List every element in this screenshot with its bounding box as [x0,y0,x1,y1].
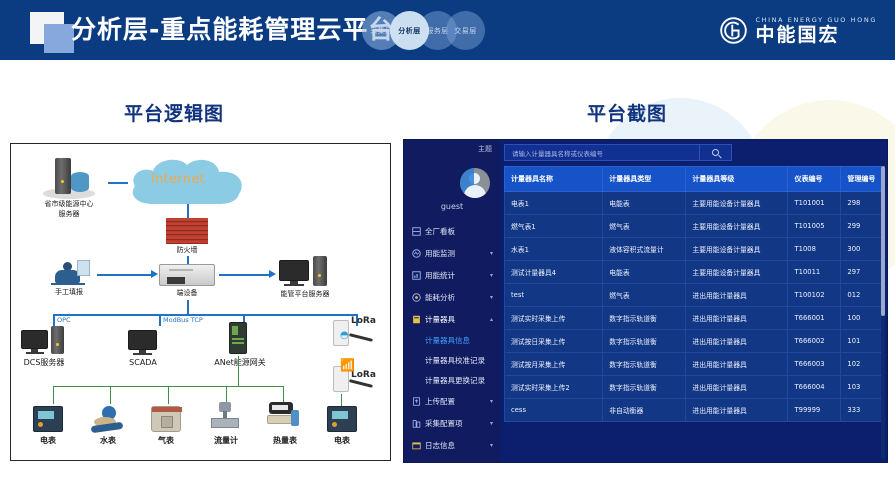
server-led-icon [56,343,59,346]
header-square-blue-icon [44,24,74,53]
meter-label: 气表 [143,436,189,446]
sidebar-item-label: 日志信息 [425,440,455,451]
layer-circle-label: 分析层 [398,26,421,36]
theme-switcher[interactable]: 主题 [478,144,492,154]
wifi-signal-icon: ◓ [340,330,349,341]
table-row[interactable]: 测试按日采集上传 数字指示轨道衡 进出用能计量器具 T666002 101 [505,330,883,353]
scada-monitor-icon [128,330,157,350]
electric-meter-icon [33,406,63,432]
sidebar-item-label: 采集配置项 [425,418,463,429]
cell-manage-no: 333 [841,399,883,422]
chevron-down-icon: ▾ [490,442,493,449]
internet-label: Internet [151,172,205,187]
platform-logic-diagram: 省市级能源中心 服务器 Internet 防火墙 手工填报 端设备 能管平 [10,143,391,461]
search-button[interactable] [699,145,731,160]
cell-manage-no: 297 [841,261,883,284]
cell-grade: 进出用能计量器具 [686,284,788,307]
arrow-manual-to-edge [151,270,158,278]
chevron-down-icon: ▾ [490,420,493,427]
cell-manage-no: 100 [841,307,883,330]
bus-drop-scada [159,314,161,326]
sidebar-item-label: 用能统计 [425,270,455,281]
green-drop-2 [110,386,111,404]
cell-meter-no: T101005 [788,215,841,238]
cell-manage-no: 101 [841,330,883,353]
table-row[interactable]: cess 非自动衡器 进出用能计量器具 T99999 333 [505,399,883,422]
table-row[interactable]: 电表1 电能表 主要用能设备计量器具 T101001 298 [505,192,883,215]
cell-type: 数字指示轨道衡 [603,330,686,353]
cell-type: 数字指示轨道衡 [603,353,686,376]
sidebar-subitem-replacement-record[interactable]: 计量器具更换记录 [404,370,500,390]
column-header-manage-no[interactable]: 管理编号 [841,167,883,192]
page-header: 分析层-重点能耗管理云平台 采集层 服务层 交易层 分析层 CHINA ENER… [0,0,895,60]
anet-gateway-label: ANet能源网关 [205,358,275,368]
cell-type: 燃气表 [603,215,686,238]
arrow-edge-to-platform [269,270,276,278]
table-row[interactable]: 测试按月采集上传 数字指示轨道衡 进出用能计量器具 T666003 102 [505,353,883,376]
log-icon [412,441,421,450]
cell-grade: 主要用能设备计量器具 [686,192,788,215]
cell-meter-no: T10011 [788,261,841,284]
monitor-icon [412,249,421,258]
manual-entry-label: 手工填报 [41,288,97,297]
firewall-label: 防火墙 [157,246,217,255]
provincial-server-label-line1: 省市级能源中心 [23,200,115,209]
protocol-label-modbus: ModBus TCP [163,316,203,324]
search-icon [712,149,719,156]
cell-manage-no: 102 [841,353,883,376]
dcs-monitor-icon [21,330,48,349]
sidebar-item-monitor[interactable]: 用能监测 ▾ [404,242,500,264]
cell-name: 测试实时采集上传 [505,307,603,330]
cell-meter-no: T99999 [788,399,841,422]
column-header-name[interactable]: 计量器具名称 [505,167,603,192]
dcs-tower-icon [51,326,64,354]
username-label: guest [404,202,500,211]
database-cylinder-icon [71,172,89,192]
g-circle-logo-icon [719,16,748,45]
logo-english-text: CHINA ENERGY GUO HONG [755,16,877,24]
sidebar-item-label: 全厂看板 [425,226,455,237]
platform-server-tower-icon [313,256,327,286]
cell-name: 燃气表1 [505,215,603,238]
monitor-base [284,284,304,286]
cell-grade: 主要用能设备计量器具 [686,238,788,261]
cell-manage-no: 299 [841,215,883,238]
cell-meter-no: T101001 [788,192,841,215]
sidebar-menu: 全厂看板 用能监测 ▾ 用能统计 ▾ 能耗分析 [404,220,500,456]
sidebar-item-dashboard[interactable]: 全厂看板 [404,220,500,242]
cell-name: 测试实时采集上传2 [505,376,603,399]
column-header-type[interactable]: 计量器具类型 [603,167,686,192]
table-row[interactable]: 燃气表1 燃气表 主要用能设备计量器具 T101005 299 [505,215,883,238]
meter-label: 流量计 [201,436,251,446]
table-row[interactable]: 水表1 液体容积式流量计 主要用能设备计量器具 T1008 300 [505,238,883,261]
link-edge-to-bus [187,300,189,314]
layer-circle-trade[interactable]: 交易层 [446,11,485,50]
sidebar-subitem-meter-info[interactable]: 计量器具信息 [404,330,500,350]
column-header-grade[interactable]: 计量器具等级 [686,167,788,192]
cell-meter-no: T666003 [788,353,841,376]
sidebar-item-label: 能耗分析 [425,292,455,303]
chevron-up-icon: ▴ [490,316,493,323]
sidebar-item-meter-device[interactable]: 计量器具 ▴ [404,308,500,330]
link-edge-to-platform [219,274,269,276]
sidebar-subitem-calibration-record[interactable]: 计量器具校准记录 [404,350,500,370]
dashboard-icon [412,227,421,236]
sidebar-item-label: 用能监测 [425,248,455,259]
sidebar-item-log[interactable]: 日志信息 ▾ [404,434,500,456]
table-scrollbar[interactable] [881,166,885,458]
cell-type: 数字指示轨道衡 [603,307,686,330]
scada-label: SCADA [117,358,169,368]
lora-antenna-bottom [349,379,373,387]
right-section-title: 平台截图 [587,99,667,126]
cell-grade: 主要用能设备计量器具 [686,261,788,284]
upload-config-icon [412,397,421,406]
bus-drop-dcs [53,314,55,326]
chevron-down-icon: ▾ [490,398,493,405]
wifi-signal-icon: 📶 [340,358,355,372]
firewall-icon [166,218,208,244]
server-led-icon [61,180,64,183]
cell-meter-no: T1008 [788,238,841,261]
table-row[interactable]: test 燃气表 进出用能计量器具 T100102 012 [505,284,883,307]
cell-name: 测试按月采集上传 [505,353,603,376]
link-manual-to-edge [97,274,151,276]
app-main-content: 请输入计量器具名称或仪表编号 计量器具名称 计量器具类型 计量器具等级 仪表编号… [500,140,887,462]
water-meter-icon [91,406,125,432]
table-row[interactable]: 测试计量器具4 电能表 主要用能设备计量器具 T10011 297 [505,261,883,284]
monitor-base [26,352,44,354]
dcs-server-label: DCS服务器 [17,358,71,368]
cell-type: 非自动衡器 [603,399,686,422]
cell-name: 电表1 [505,192,603,215]
lora-label-top: LoRa [351,316,376,326]
cell-meter-no: T100102 [788,284,841,307]
protocol-label-opc: OPC [57,316,71,324]
cell-grade: 进出用能计量器具 [686,330,788,353]
avatar[interactable] [460,168,490,198]
page-title: 分析层-重点能耗管理云平台 [71,12,394,48]
cell-name: test [505,284,603,307]
sidebar-subitem-label: 计量器具信息 [425,335,470,346]
layer-circle-analysis[interactable]: 分析层 [390,11,429,50]
scrollbar-thumb[interactable] [881,166,885,316]
monitor-base [133,353,152,355]
cell-type: 数字指示轨道衡 [603,376,686,399]
sidebar-item-label: 上传配置 [425,396,455,407]
cell-type: 液体容积式流量计 [603,238,686,261]
column-header-meter-no[interactable]: 仪表编号 [788,167,841,192]
layer-circle-label: 交易层 [454,26,477,36]
chevron-down-icon: ▾ [490,294,493,301]
cell-grade: 主要用能设备计量器具 [686,215,788,238]
cell-name: 水表1 [505,238,603,261]
sidebar-item-statistics[interactable]: 用能统计 ▾ [404,264,500,286]
platform-screenshot: 主题 guest 全厂看板 用能监测 ▾ 用能统计 [404,140,887,462]
manual-entry-desk [51,283,85,285]
search-input[interactable]: 请输入计量器具名称或仪表编号 [505,148,603,158]
provincial-server-label-line2: 服务器 [23,210,115,219]
green-drop-gateway [238,356,239,386]
flow-meter-icon [209,402,241,432]
cell-type: 燃气表 [603,284,686,307]
cell-meter-no: T666004 [788,376,841,399]
meter-device-table: 计量器具名称 计量器具类型 计量器具等级 仪表编号 管理编号 电表1 电能表 主… [504,166,883,422]
anet-gateway-icon [229,322,247,354]
company-logo: CHINA ENERGY GUO HONG 中能国宏 [719,11,877,49]
meter-label: 电表 [25,436,71,446]
meter-label: 热量表 [261,436,309,446]
platform-server-label: 能管平台服务器 [269,290,341,299]
cell-meter-no: T666001 [788,307,841,330]
edge-device-label: 端设备 [159,289,215,298]
sidebar-item-upload-config[interactable]: 上传配置 ▾ [404,390,500,412]
meter-label: 电表 [319,436,365,446]
lora-antenna-top [349,333,373,341]
sidebar-subitem-label: 计量器具更换记录 [425,375,485,386]
cell-manage-no: 103 [841,376,883,399]
logo-chinese-text: 中能国宏 [755,26,877,45]
heat-meter-icon [265,402,301,432]
app-sidebar: 主题 guest 全厂看板 用能监测 ▾ 用能统计 [404,140,500,462]
provincial-server-tower-icon [55,158,71,194]
link-internet-to-firewall [187,204,189,218]
collect-config-icon [412,419,421,428]
meter-device-icon [412,315,421,324]
cell-meter-no: T666002 [788,330,841,353]
edge-device-icon [159,264,215,286]
cell-name: cess [505,399,603,422]
sidebar-subitem-label: 计量器具校准记录 [425,355,485,366]
green-drop-1 [53,386,54,404]
gas-meter-icon [151,406,181,432]
table-header-row: 计量器具名称 计量器具类型 计量器具等级 仪表编号 管理编号 [505,167,883,192]
analysis-icon [412,293,421,302]
sidebar-item-label: 计量器具 [425,314,455,325]
field-bus-line [53,314,356,316]
electric-meter-icon [327,406,357,432]
sidebar-item-analysis[interactable]: 能耗分析 ▾ [404,286,500,308]
cell-grade: 进出用能计量器具 [686,307,788,330]
statistics-icon [412,271,421,280]
chevron-down-icon: ▾ [490,272,493,279]
sidebar-item-collect-config[interactable]: 采集配置项 ▾ [404,412,500,434]
green-drop-3 [168,386,169,404]
chevron-down-icon: ▾ [490,250,493,257]
cell-grade: 进出用能计量器具 [686,376,788,399]
cell-manage-no: 300 [841,238,883,261]
cell-grade: 进出用能计量器具 [686,399,788,422]
cell-name: 测试计量器具4 [505,261,603,284]
meter-label: 水表 [85,436,131,446]
table-row[interactable]: 测试实时采集上传 数字指示轨道衡 进出用能计量器具 T666001 100 [505,307,883,330]
platform-server-monitor-icon [279,260,309,281]
table-row[interactable]: 测试实时采集上传2 数字指示轨道衡 进出用能计量器具 T666004 103 [505,376,883,399]
table-body: 电表1 电能表 主要用能设备计量器具 T101001 298 燃气表1 燃气表 … [505,192,883,422]
cell-manage-no: 298 [841,192,883,215]
server-led-icon [318,274,321,277]
cell-type: 电能表 [603,192,686,215]
manual-entry-form-icon [77,260,90,276]
cell-type: 电能表 [603,261,686,284]
left-section-title: 平台逻辑图 [124,99,224,126]
cell-manage-no: 012 [841,284,883,307]
cell-grade: 进出用能计量器具 [686,353,788,376]
search-bar[interactable]: 请输入计量器具名称或仪表编号 [504,144,732,161]
cell-name: 测试按日采集上传 [505,330,603,353]
